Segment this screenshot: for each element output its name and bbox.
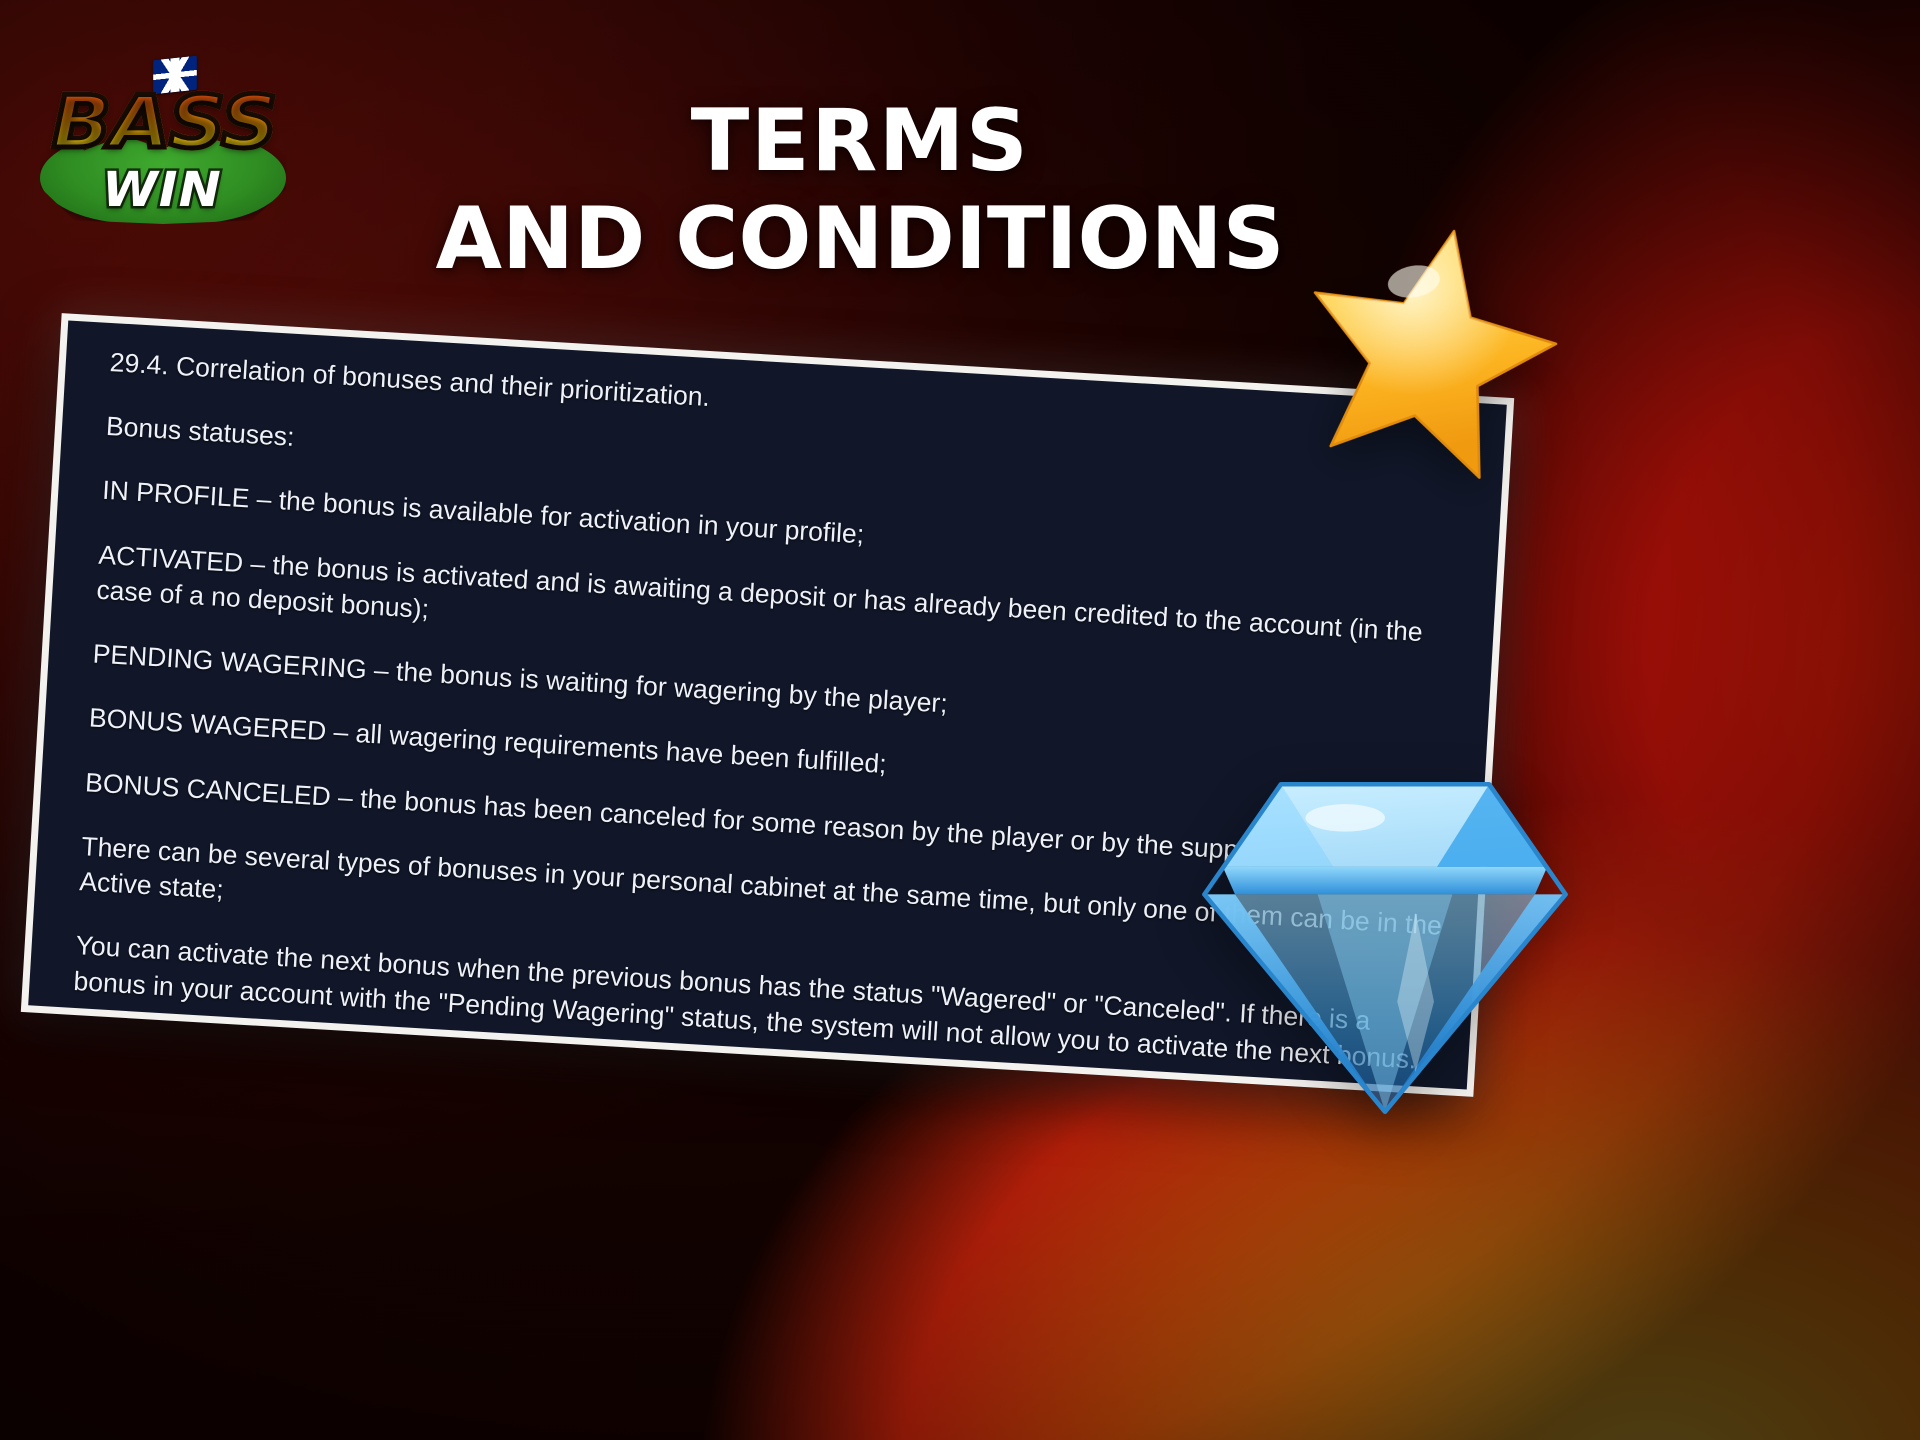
brand-logo[interactable]: BASS WIN — [28, 58, 298, 223]
logo-bass-text: BASS — [34, 86, 293, 158]
star-icon — [1271, 193, 1588, 505]
logo-win-text: WIN — [57, 166, 267, 214]
page-title-line1: TERMS — [691, 91, 1030, 191]
diamond-icon — [1185, 772, 1585, 1124]
page-title: TERMS AND CONDITIONS — [330, 92, 1390, 288]
page-title-line2: AND CONDITIONS — [330, 190, 1390, 288]
